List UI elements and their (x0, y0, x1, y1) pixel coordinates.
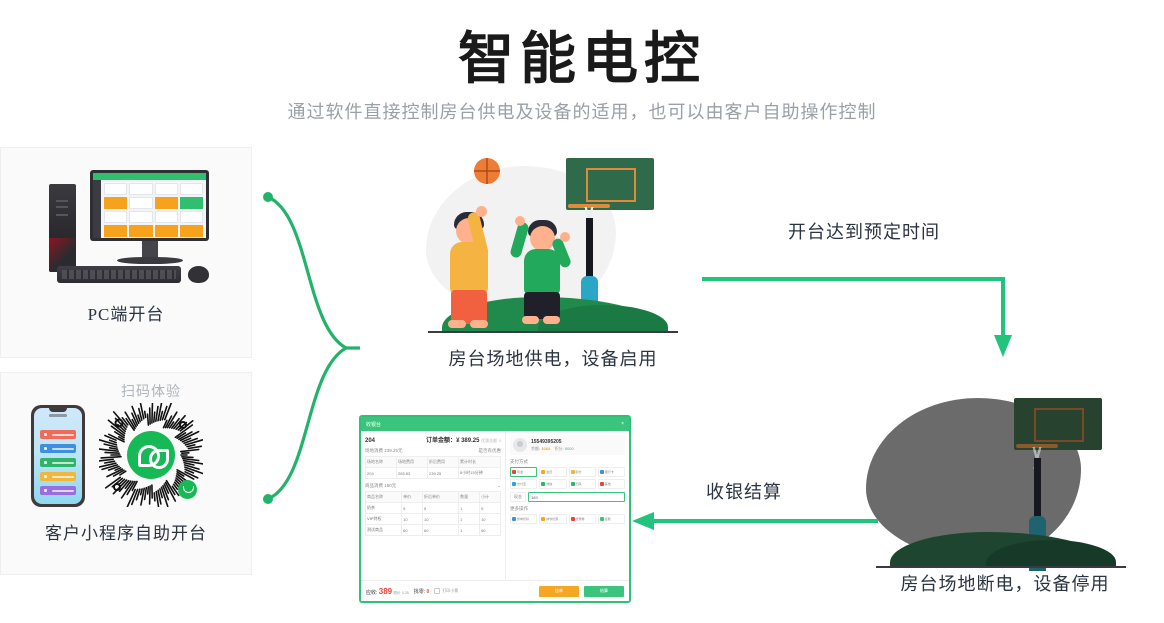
op-coupon[interactable]: 优惠券 (569, 514, 596, 524)
pay-method-other[interactable]: 其他 (598, 479, 625, 489)
footer-change-value: 0 (427, 589, 430, 595)
footer-change-label: 找零: (414, 589, 425, 595)
illustration-court-unpowered (866, 398, 1121, 568)
monitor-base (117, 257, 183, 264)
brace-dot-top (263, 192, 273, 202)
member-points-label: 积分: (555, 446, 564, 451)
pc-monitor-icon (90, 170, 209, 241)
pos-order-panel: 204 订单金额：¥ 389.25 优惠金额 0 场地消费 239.25元 是否… (361, 431, 506, 601)
col-goods-name: 商品名称 (366, 492, 402, 503)
pay-method-bankcard[interactable]: 银行卡 (598, 467, 625, 477)
pos-order-amount: ¥ 389.25 (456, 438, 479, 444)
pos-goods-value: 150元 (384, 483, 396, 488)
op-credit[interactable]: 挂账 (598, 514, 625, 524)
pay-amount-tag: 现金 (510, 492, 526, 502)
pos-goods-expand-icon[interactable]: ⌄ (497, 483, 501, 489)
illustration-court-powered (418, 158, 688, 333)
card-pc-open-table[interactable]: PC端开台 (0, 147, 252, 358)
pay-amount-input[interactable]: 389 (528, 492, 625, 502)
close-icon[interactable]: × (621, 421, 624, 427)
pc-tower-icon (49, 184, 76, 272)
pos-goods-table-header: 商品名称 单价 折后单价 数量 小计 (366, 492, 501, 503)
col-goods-qty: 数量 (459, 492, 480, 503)
table-row: 奶茶 5 5 1 5 (366, 503, 501, 514)
pay-method-alipay[interactable]: 支付宝 (510, 479, 537, 489)
phone-button-list (40, 430, 76, 500)
pay-method-wechat[interactable]: 微信 (539, 479, 566, 489)
footer-print-checkbox[interactable]: 打印小票 (434, 588, 458, 594)
page-title: 智能电控 (0, 14, 1164, 95)
table-row: 204 265.83 239.25 5小时15分钟 (366, 468, 501, 479)
footer-due-note: 原价 (394, 591, 401, 595)
footer-due-value: 389 (379, 587, 392, 596)
pos-payment-panel: 15549395205 余额: 1064 积分: 6000 支付方式 现金 会员 (506, 431, 629, 601)
pos-goods-label: 商品消费 (365, 483, 383, 488)
pay-method-member[interactable]: 会员 (539, 467, 566, 477)
col-site-name: 场地名称 (366, 457, 397, 468)
more-ops-label: 更多操作 (510, 506, 625, 512)
phone-btn-2[interactable] (40, 458, 76, 467)
more-ops-grid: 整单折扣 抹零优惠 优惠券 挂账 (510, 514, 625, 524)
op-round-off[interactable]: 抹零优惠 (539, 514, 566, 524)
brace-connector (250, 175, 360, 520)
pos-site-table: 场地名称 场地费用 折后费用 累计时长 204 265.83 239.25 5小… (365, 456, 501, 479)
phone-btn-1[interactable] (40, 444, 76, 453)
member-points-value: 6000 (565, 446, 574, 451)
pos-site-table-header: 场地名称 场地费用 折后费用 累计时长 (366, 457, 501, 468)
pos-window-title: 收银台 (366, 421, 381, 428)
card-caption-pc: PC端开台 (1, 300, 251, 325)
footer-due-note-value: 0.25 (402, 591, 409, 595)
member-balance-value: 1064 (541, 446, 550, 451)
hold-order-button[interactable]: 挂单 (539, 586, 579, 597)
col-goods-subtotal: 小计 (480, 492, 501, 503)
col-site-discount-fee: 折后费用 (428, 457, 459, 468)
pos-site-discount-label[interactable]: 是否有优惠 (479, 448, 502, 454)
scan-label: 扫码体验 (91, 381, 211, 401)
member-phone: 15549395205 (531, 439, 574, 445)
footer-due-label: 应收: (366, 590, 377, 596)
checkbox-icon (434, 588, 440, 594)
arrow-bottom-label: 收银结算 (706, 478, 782, 504)
arrow-top-label: 开台达到预定时间 (788, 218, 940, 244)
pc-illustration (45, 170, 215, 285)
pos-order-amount-label: 订单金额： (426, 438, 456, 444)
col-site-duration: 累计时长 (459, 457, 501, 468)
member-balance-label: 余额: (531, 446, 540, 451)
pos-cashier-window[interactable]: 收银台 × 204 订单金额：¥ 389.25 优惠金额 0 场地消费 23 (359, 415, 631, 603)
caption-power-off: 房台场地断电，设备停用 (860, 570, 1150, 596)
pay-method-points[interactable]: 积分 (569, 467, 596, 477)
qr-code-icon[interactable] (99, 403, 203, 507)
settle-button[interactable]: 结算 (584, 586, 624, 597)
player-yellow (442, 202, 502, 328)
table-row: 测试商品 60 60 1 60 (366, 525, 501, 536)
arrow-bottom-left (630, 505, 880, 537)
pay-method-cash[interactable]: 现金 (510, 467, 537, 477)
pos-titlebar: 收银台 × (361, 417, 629, 431)
table-row: VIP特权 10 10 1 10 (366, 514, 501, 525)
pos-site-fee-value: 239.25元 (384, 448, 402, 453)
col-site-fee: 场地费用 (397, 457, 428, 468)
member-card[interactable]: 15549395205 余额: 1064 积分: 6000 (510, 435, 625, 455)
pos-goods-table: 商品名称 单价 折后单价 数量 小计 奶茶 5 5 1 5 (365, 491, 501, 536)
pos-order-amount-note-value: 0 (499, 438, 501, 443)
phone-btn-3[interactable] (40, 472, 76, 481)
card-miniprogram-self-service[interactable]: 扫码体验 (0, 372, 252, 575)
page-subtitle: 通过软件直接控制房台供电及设备的适用，也可以由客户自助操作控制 (0, 98, 1164, 124)
keyboard-icon (57, 266, 181, 283)
pos-site-fee-label: 场地消费 (365, 448, 383, 453)
poster-canvas: 智能电控 通过软件直接控制房台供电及设备的适用，也可以由客户自助操作控制 (0, 0, 1164, 623)
op-whole-discount[interactable]: 整单折扣 (510, 514, 537, 524)
col-goods-discount-price: 折后单价 (423, 492, 459, 503)
pay-method-grid: 现金 会员 积分 银行卡 支付宝 微信 扫码 其他 (510, 467, 625, 489)
qr-logo (127, 431, 175, 479)
pos-order-amount-note: 优惠金额 (481, 438, 497, 443)
caption-power-on: 房台场地供电，设备启用 (418, 345, 688, 371)
basketball-icon (474, 158, 500, 184)
pay-amount-row: 现金 389 (510, 492, 625, 502)
pos-table-no: 204 (365, 438, 375, 444)
player-green (512, 214, 574, 328)
col-goods-price: 单价 (402, 492, 423, 503)
footer-print-label: 打印小票 (442, 588, 458, 594)
card-caption-miniprogram: 客户小程序自助开台 (1, 519, 251, 544)
miniprogram-illustration: 扫码体验 (19, 397, 235, 512)
avatar (513, 438, 527, 452)
phone-mockup (31, 405, 85, 507)
pos-footer: 应收: 389 原价 0.25 找零: 0 打印小票 挂单 结算 (361, 580, 629, 601)
brace-dot-bottom (263, 494, 273, 504)
phone-btn-0[interactable] (40, 430, 76, 439)
mouse-icon (188, 266, 209, 283)
wechat-mini-badge-icon (178, 480, 197, 499)
arrow-top-right-down (700, 245, 1012, 360)
pay-method-label: 支付方式 (510, 459, 625, 465)
phone-btn-4[interactable] (40, 486, 76, 495)
pay-method-scan[interactable]: 扫码 (569, 479, 596, 489)
